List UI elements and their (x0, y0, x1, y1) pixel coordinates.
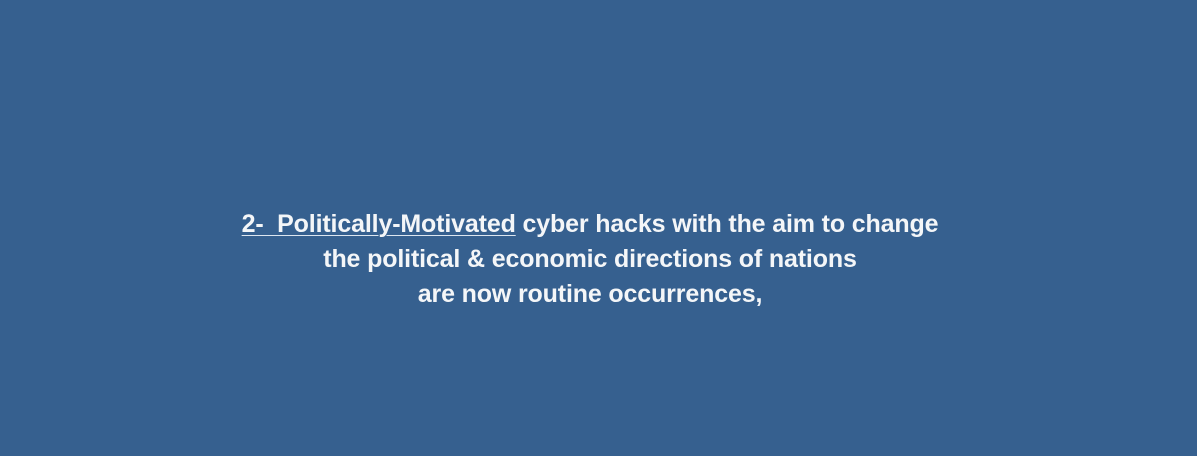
slide-text-line-3: are now routine occurrences, (0, 277, 1180, 312)
slide-text-line-1-remainder: cyber hacks with the aim to change (516, 210, 939, 238)
slide-canvas: 2- Politically-Motivated cyber hacks wit… (0, 0, 1197, 456)
slide-text-line-2: the political & economic directions of n… (0, 242, 1180, 277)
slide-text-block: 2- Politically-Motivated cyber hacks wit… (0, 207, 1180, 312)
slide-text-line-1: 2- Politically-Motivated cyber hacks wit… (0, 207, 1180, 242)
underlined-lead-phrase: 2- Politically-Motivated (242, 210, 516, 238)
